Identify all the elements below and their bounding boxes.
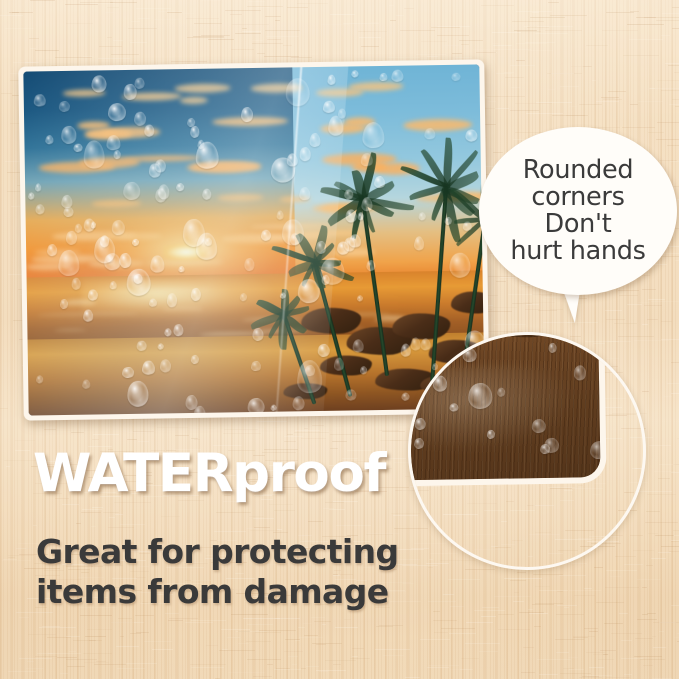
callout-bubble: Rounded corners Don't hurt hands: [479, 127, 677, 295]
rounded-corner-zoom-circle: [408, 332, 646, 570]
subheadline-line-1: Great for protecting: [36, 532, 436, 572]
callout-line-4: hurt hands: [510, 238, 645, 265]
callout-text: Rounded corners Don't hurt hands: [502, 157, 653, 265]
callout-line-1: Rounded: [510, 157, 645, 184]
subheadline-line-2: items from damage: [36, 572, 436, 612]
callout-line-2: corners: [510, 184, 645, 211]
headline-waterproof: WATERproof: [33, 447, 385, 500]
zoomed-photo-corner: [411, 335, 601, 481]
zoom-circle-content: [411, 335, 643, 567]
subheadline: Great for protecting items from damage: [36, 532, 436, 612]
zoomed-photo-border: [411, 335, 607, 487]
callout-line-3: Don't: [510, 211, 645, 238]
product-marketing-image: Rounded corners Don't hurt hands WATERpr…: [0, 0, 679, 679]
